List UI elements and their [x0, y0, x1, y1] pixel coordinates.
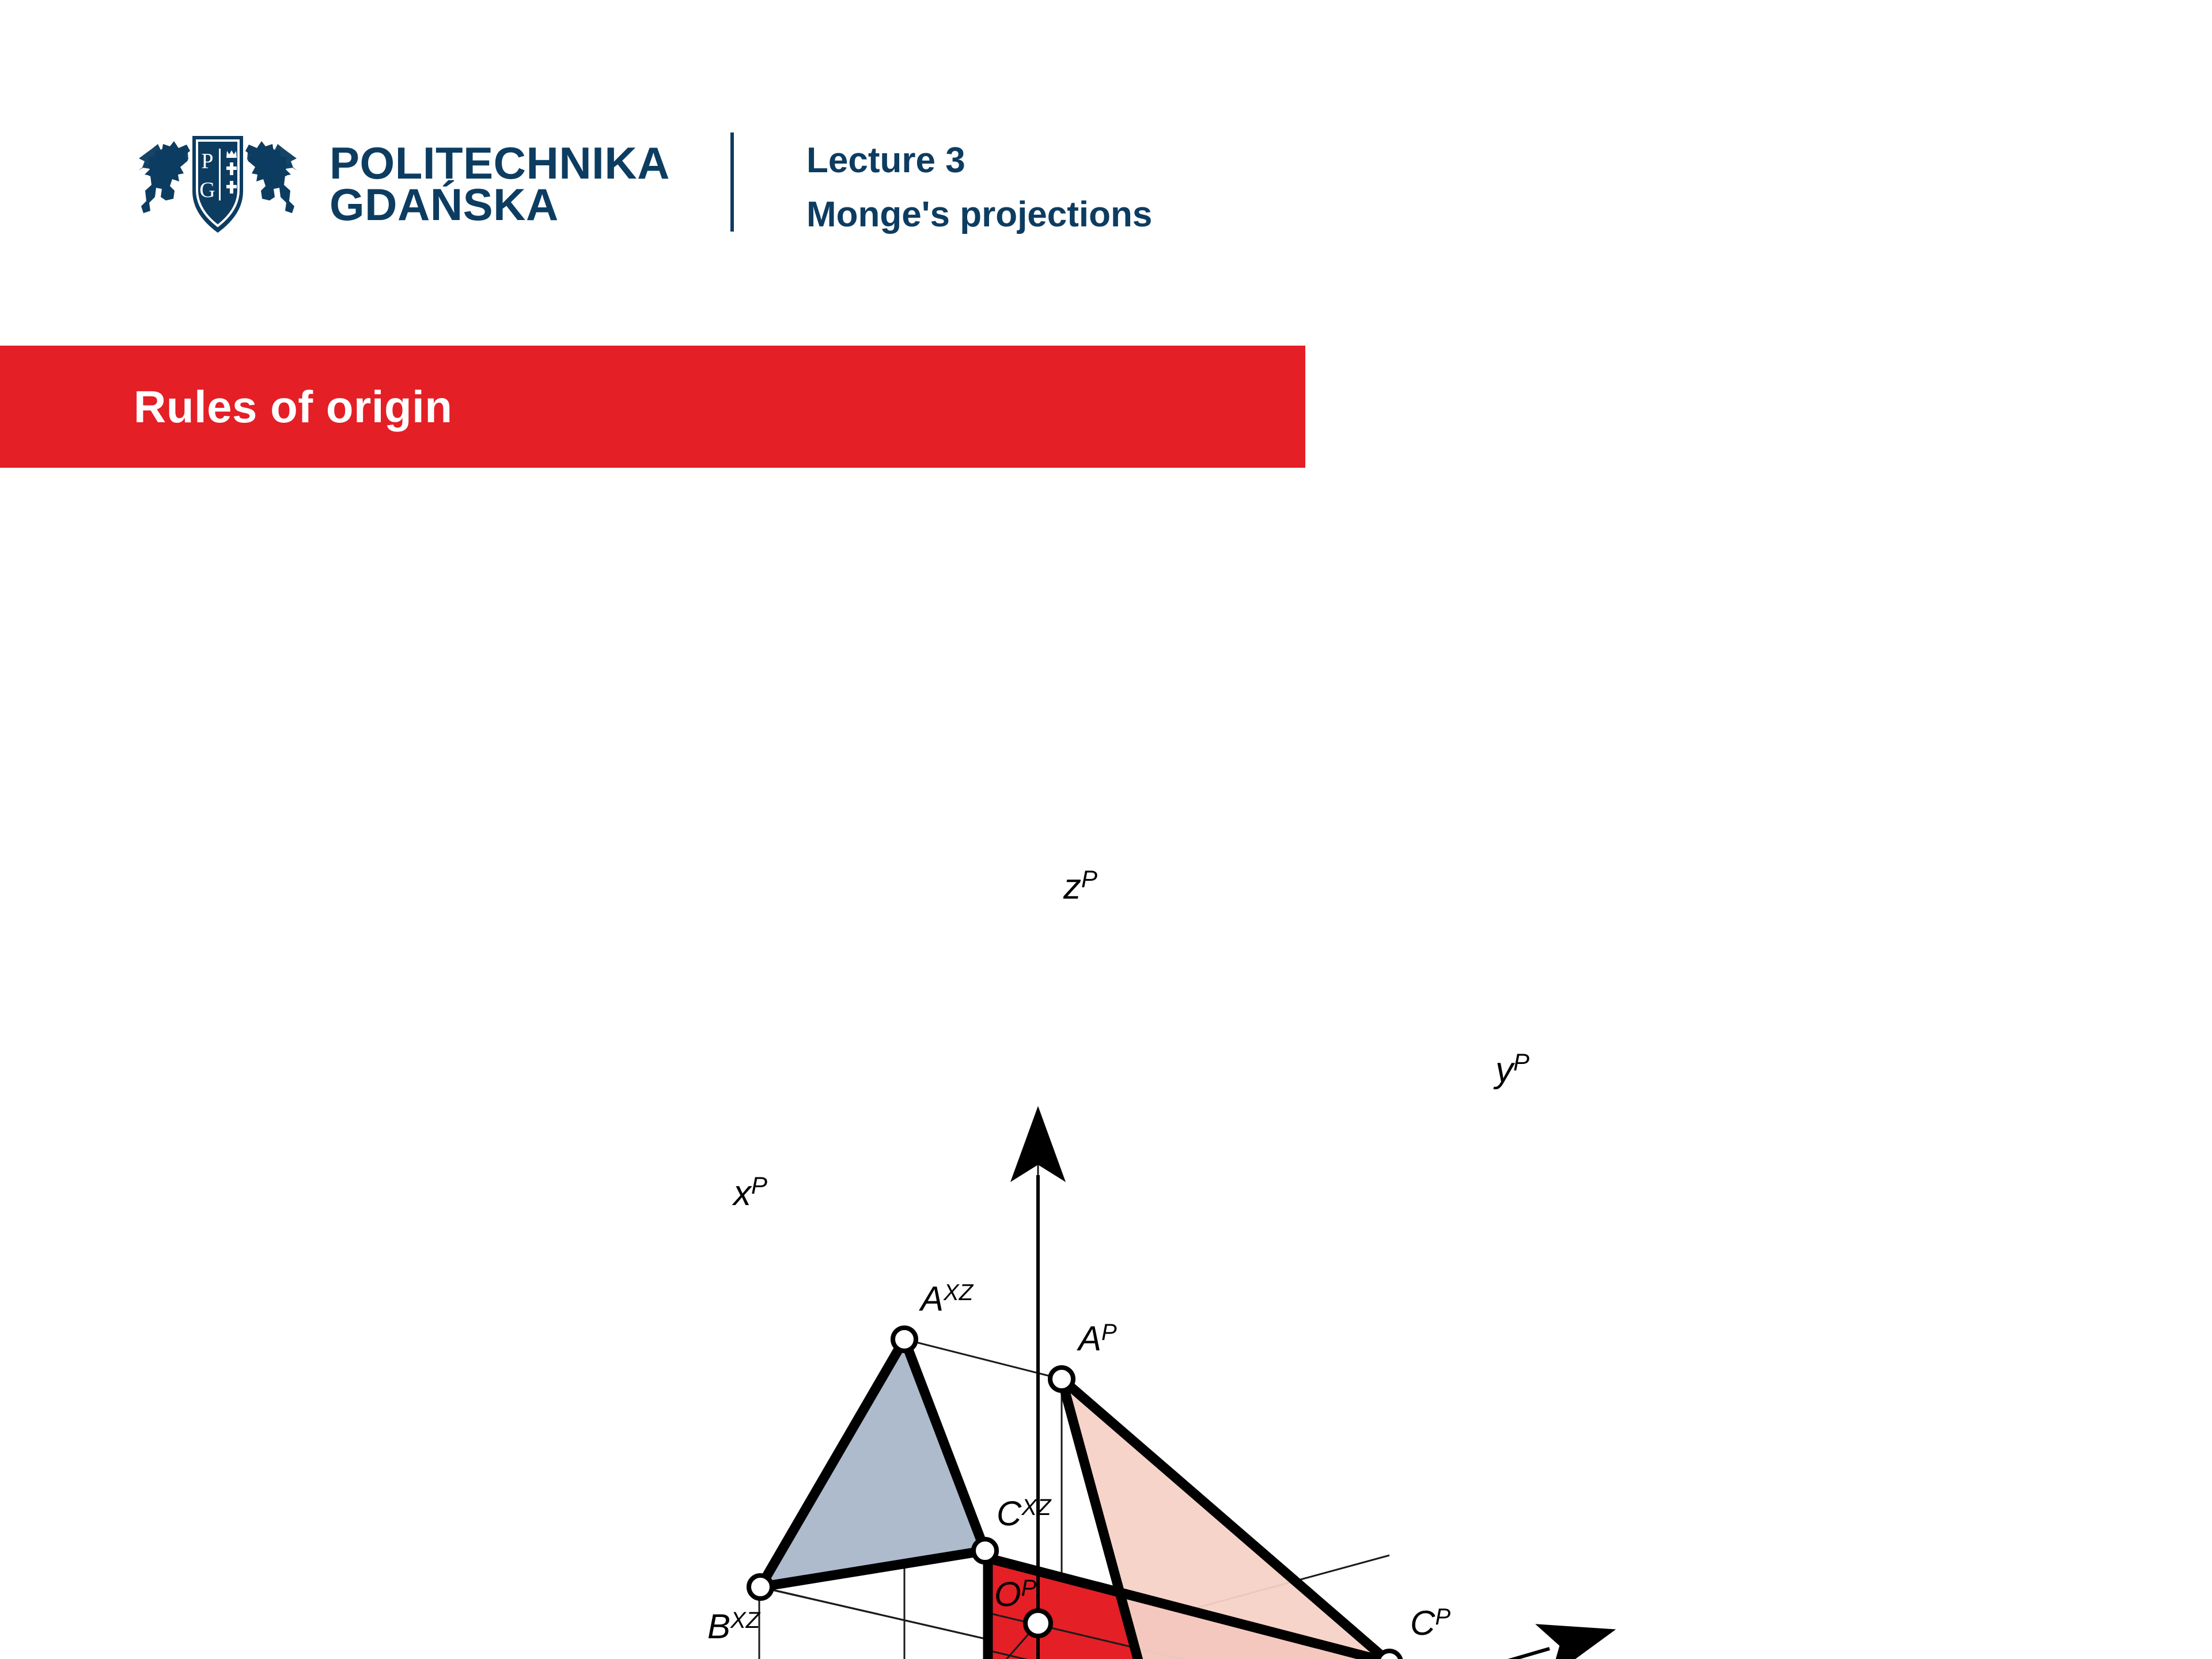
y-axis-label: yP [1493, 1048, 1529, 1090]
triangle-xz-projection [760, 1339, 985, 1587]
university-logo: P G POLITECHNIKA GDAŃSKA [128, 128, 670, 241]
point-C-xz [974, 1539, 997, 1562]
point-O-p [1025, 1611, 1051, 1636]
z-axis-label: zP [1063, 865, 1097, 907]
diagram-canvas: zP yP xP AXZ AP BXZ CXZ [0, 518, 2212, 1659]
pg-coat-of-arms-logo: P G [128, 128, 308, 241]
label-A-p: AP [1077, 1319, 1117, 1358]
svg-text:G: G [199, 178, 215, 202]
slide-title-banner: Rules of origin [0, 346, 1305, 468]
x-axis-label: xP [732, 1172, 767, 1213]
point-A-xz [893, 1328, 916, 1351]
label-C-xz: CXZ [997, 1494, 1052, 1533]
lecture-topic: Monge's projections [806, 188, 1152, 242]
label-C-p: CP [1410, 1604, 1450, 1642]
page-title: Rules of origin [134, 381, 453, 433]
monge-projection-diagram: zP yP xP AXZ AP BXZ CXZ [0, 518, 2212, 1659]
label-A-xz: AXZ [919, 1279, 974, 1318]
point-C-p [1378, 1651, 1401, 1659]
university-wordmark: POLITECHNIKA GDAŃSKA [329, 143, 670, 226]
point-B-xz [749, 1575, 772, 1599]
wordmark-line-2: GDAŃSKA [329, 179, 559, 230]
axis-labels: zP yP xP [732, 865, 1529, 1213]
header-vertical-divider [730, 132, 734, 232]
lecture-number: Lecture 3 [806, 134, 1152, 188]
lecture-info: Lecture 3 Monge's projections [806, 134, 1152, 242]
point-A-p [1050, 1368, 1073, 1391]
slide-header: P G POLITECHNIKA GDAŃSKA Lecture 3 Monge… [0, 0, 2212, 314]
svg-text:P: P [201, 149, 213, 173]
label-B-xz: BXZ [707, 1607, 761, 1646]
